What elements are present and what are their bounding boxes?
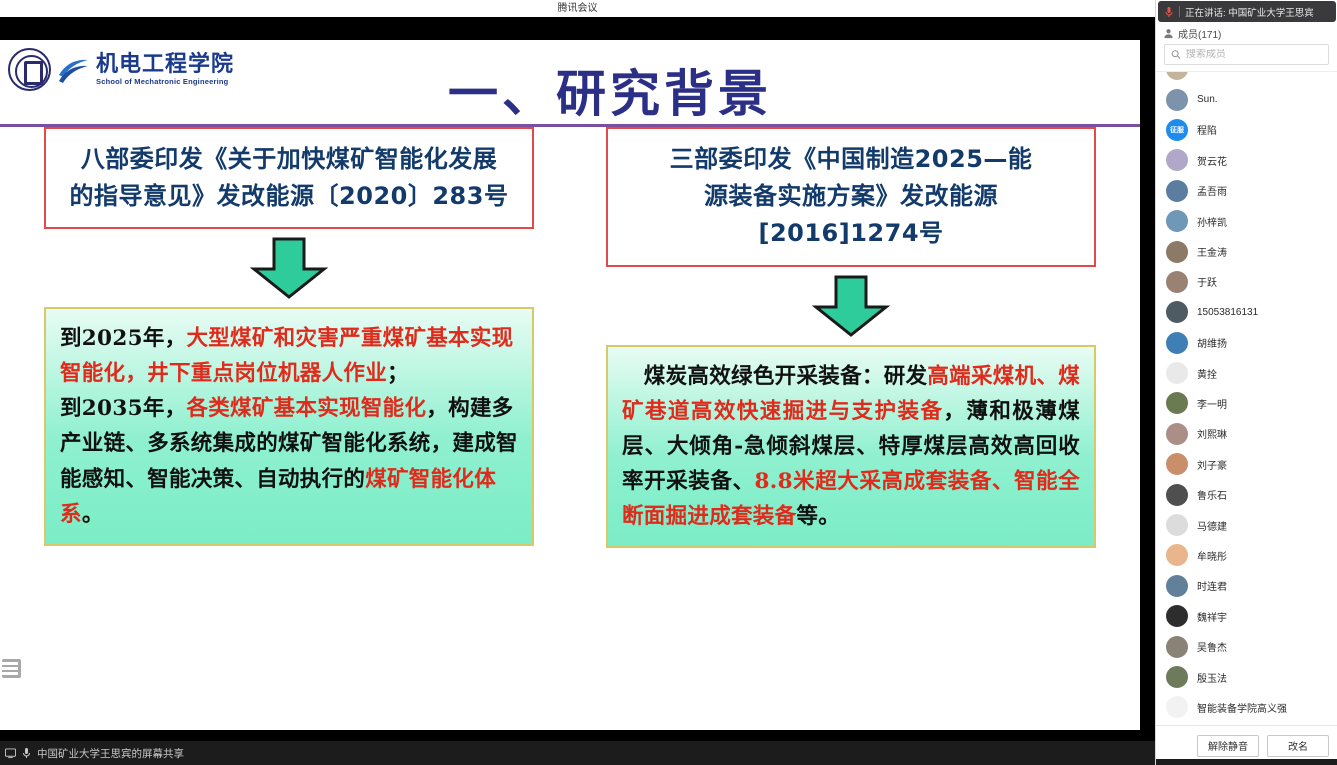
avatar [1166,544,1188,566]
participant-row[interactable]: 孙梓凯 [1156,206,1337,236]
participant-name: 胡维扬 [1197,335,1227,350]
microphone-icon [22,747,31,759]
avatar [1166,271,1188,293]
participant-name: 刘熙琳 [1197,426,1227,441]
left-detail-text: 到2025年，大型煤矿和灾害严重煤矿基本实现智能化，井下重点岗位机器人作业；到2… [60,321,518,531]
participant-name: 15053816131 [1197,307,1258,318]
right-policy-line-3: [2016]1274号 [616,215,1086,252]
share-status-bar: 中国矿业大学王思宾的屏幕共享 [0,741,1155,765]
participant-row[interactable]: 于跃 [1156,267,1337,297]
search-row [1156,42,1337,71]
text-run: ； [387,361,409,386]
window-title-bar: 腾讯会议 [0,0,1155,17]
avatar [1166,392,1188,414]
text-run: 煤炭高效绿色开采装备：研发 [622,364,927,389]
participant-name: 殷玉法 [1197,670,1227,685]
divider [1179,6,1180,17]
participant-row[interactable]: 牟晓彤 [1156,540,1337,570]
participant-row[interactable]: 孟吾雨 [1156,176,1337,206]
participant-name: Sun. [1197,94,1218,105]
participant-row[interactable]: Sun. [1156,84,1337,114]
participant-name: 李一明 [1197,396,1227,411]
avatar [1166,301,1188,323]
participant-row[interactable]: 李一明 [1156,388,1337,418]
search-box[interactable] [1164,44,1329,65]
speaking-banner: 正在讲话: 中国矿业大学王思宾 [1158,1,1336,22]
participant-row[interactable]: 胡维扬 [1156,328,1337,358]
participant-name: 智能装备学院高义强 [1197,700,1287,715]
participant-row[interactable]: 王金涛 [1156,236,1337,266]
rename-button[interactable]: 改名 [1267,735,1329,757]
avatar [1166,180,1188,202]
members-header: 成员(171) [1156,24,1337,42]
participant-row[interactable]: 殷玉法 [1156,662,1337,692]
slide-title: 一、研究背景 [0,54,1140,126]
participant-name: 于跃 [1197,274,1217,289]
right-detail-box: 煤炭高效绿色开采装备：研发高端采煤机、煤矿巷道高效快速掘进与支护装备，薄和极薄煤… [606,345,1096,548]
avatar [1166,575,1188,597]
left-arrow-row [44,229,534,307]
members-count-label: 成员(171) [1178,26,1221,41]
right-column: 三部委印发《中国制造2025—能 源装备实施方案》发改能源 [2016]1274… [606,127,1096,548]
microphone-icon [1164,6,1174,18]
avatar [1166,605,1188,627]
avatar [1166,71,1188,80]
person-icon [1163,28,1174,39]
participant-name: 马德建 [1197,518,1227,533]
highlight-run: 各类煤矿基本实现智能化 [186,396,426,421]
left-policy-box: 八部委印发《关于加快煤矿智能化发展 的指导意见》发改能源〔2020〕283号 [44,127,534,229]
participant-name: 黄拴 [1197,366,1217,381]
participant-row[interactable]: 马德建 [1156,510,1337,540]
participants-list[interactable]: Sun.征服程陷贺云花孟吾雨孙梓凯王金涛于跃15053816131胡维扬黄拴李一… [1156,71,1337,725]
slide-header: 机电工程学院 School of Mechatronic Engineering… [0,40,1140,127]
participant-name: 吴鲁杰 [1197,639,1227,654]
avatar [1166,514,1188,536]
avatar [1166,362,1188,384]
participant-row[interactable]: 征服程陷 [1156,115,1337,145]
participant-name: 王金涛 [1197,244,1227,259]
participant-row[interactable]: 鲁乐石 [1156,479,1337,509]
text-run: 到2035年， [60,396,186,421]
slide-body: 八部委印发《关于加快煤矿智能化发展 的指导意见》发改能源〔2020〕283号 到… [0,127,1140,548]
participant-name: 贺云花 [1197,153,1227,168]
left-detail-box: 到2025年，大型煤矿和灾害严重煤矿基本实现智能化，井下重点岗位机器人作业；到2… [44,307,534,545]
participants-panel: 正在讲话: 中国矿业大学王思宾 成员(171) Sun.征服程陷贺云花孟吾雨孙梓… [1155,0,1337,765]
participant-row[interactable]: 刘子豪 [1156,449,1337,479]
meeting-window: 腾讯会议 机电工程学院 School of Mechatronic Engine… [0,0,1337,765]
list-menu-icon[interactable] [2,659,21,678]
search-input[interactable] [1186,49,1322,60]
left-policy-line-1: 八部委印发《关于加快煤矿智能化发展 [54,141,524,178]
avatar [1166,453,1188,475]
panel-bottom-strip [1156,759,1337,765]
right-arrow-row [606,267,1096,345]
avatar [1166,636,1188,658]
text-run: 到2025年， [60,326,186,351]
avatar [1166,149,1188,171]
speaking-label: 正在讲话: 中国矿业大学王思宾 [1185,5,1314,19]
search-icon [1171,49,1181,60]
participant-name: 牟晓彤 [1197,548,1227,563]
avatar [1166,423,1188,445]
window-title: 腾讯会议 [558,3,598,14]
presentation-slide: 机电工程学院 School of Mechatronic Engineering… [0,40,1140,730]
participant-name: 时连君 [1197,578,1227,593]
participant-row[interactable]: 15053816131 [1156,297,1337,327]
right-policy-line-1: 三部委印发《中国制造2025—能 [616,141,1086,178]
avatar [1166,696,1188,718]
right-policy-line-2: 源装备实施方案》发改能源 [616,178,1086,215]
unmute-button[interactable]: 解除静音 [1197,735,1259,757]
participant-row[interactable]: 时连君 [1156,571,1337,601]
participant-name: 魏祥宇 [1197,609,1227,624]
participant-name: 孟吾雨 [1197,183,1227,198]
left-column: 八部委印发《关于加快煤矿智能化发展 的指导意见》发改能源〔2020〕283号 到… [44,127,534,548]
participant-row[interactable]: 智能装备学院高义强 [1156,692,1337,722]
text-run: 等。 [796,504,840,529]
avatar [1166,210,1188,232]
participant-name: 刘子豪 [1197,457,1227,472]
down-arrow-icon [250,237,328,299]
avatar [1166,484,1188,506]
participant-row[interactable]: 黄拴 [1156,358,1337,388]
avatar [1166,332,1188,354]
right-policy-box: 三部委印发《中国制造2025—能 源装备实施方案》发改能源 [2016]1274… [606,127,1096,267]
participant-name: 孙梓凯 [1197,214,1227,229]
participant-name: 程陷 [1197,122,1217,137]
avatar [1166,241,1188,263]
shared-screen-stage[interactable]: 机电工程学院 School of Mechatronic Engineering… [0,17,1155,741]
left-policy-line-2: 的指导意见》发改能源〔2020〕283号 [54,178,524,215]
participant-name: 鲁乐石 [1197,487,1227,502]
screen-icon [5,748,16,759]
participant-row[interactable] [1156,71,1337,84]
participant-row[interactable]: 贺云花 [1156,145,1337,175]
avatar [1166,89,1188,111]
participant-row[interactable]: 吴鲁杰 [1156,631,1337,661]
avatar: 征服 [1166,119,1188,141]
share-status-text: 中国矿业大学王思宾的屏幕共享 [37,746,184,761]
text-run: 。 [82,502,104,527]
right-detail-text: 煤炭高效绿色开采装备：研发高端采煤机、煤矿巷道高效快速掘进与支护装备，薄和极薄煤… [622,359,1080,534]
avatar [1166,666,1188,688]
down-arrow-icon [812,275,890,337]
participant-row[interactable]: 魏祥宇 [1156,601,1337,631]
participant-row[interactable]: 刘熙琳 [1156,419,1337,449]
